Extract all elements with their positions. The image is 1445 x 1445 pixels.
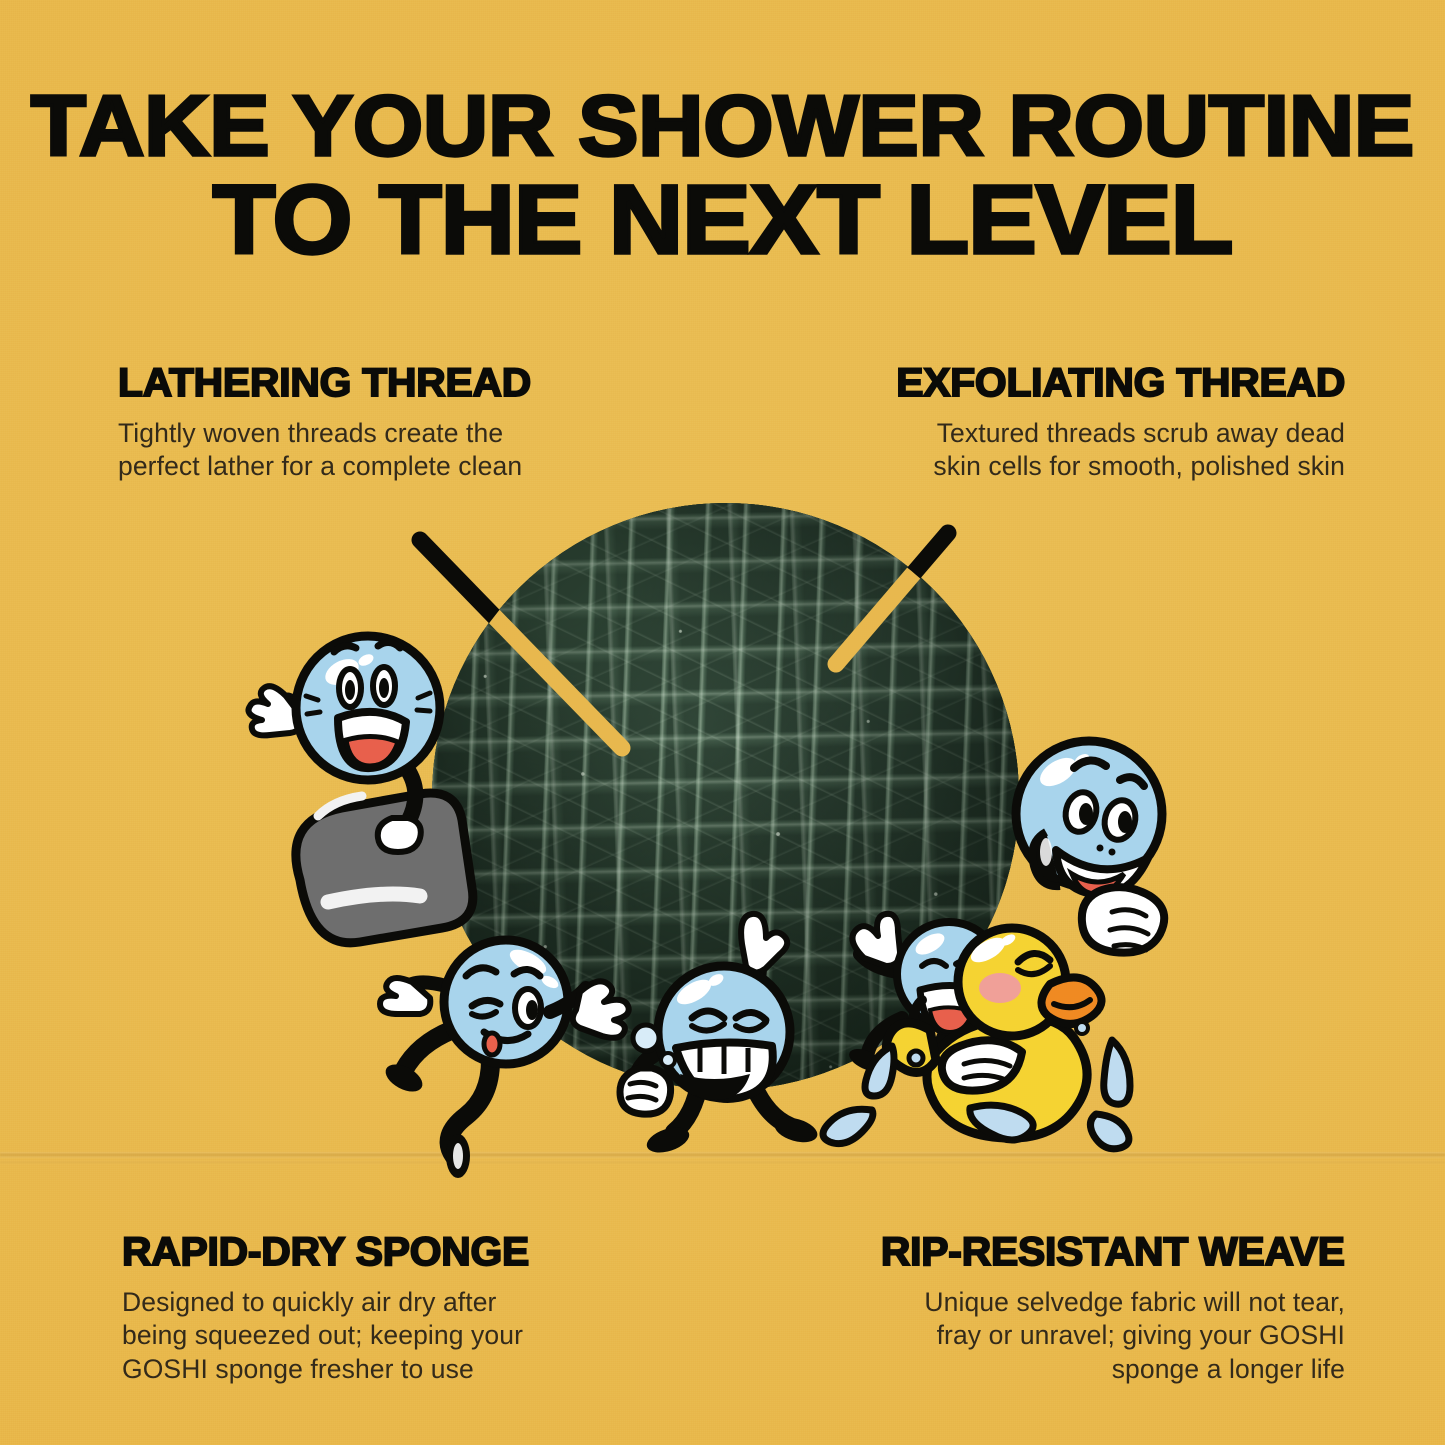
feature-desc-line: Unique selvedge fabric will not tear, [890,1286,1345,1319]
feature-desc-line: perfect lather for a complete clean [118,450,523,483]
paper-crease-line [0,1152,1445,1158]
feature-title: EXFOLIATING THREAD [896,363,1345,403]
feature-title: RAPID-DRY SPONGE [122,1232,531,1272]
feature-rapid-dry-sponge: RAPID-DRY SPONGE Designed to quickly air… [122,1232,523,1386]
feature-desc-line: sponge a longer life [890,1353,1345,1386]
mascot-bubble-leaning-chin [1016,741,1164,953]
feature-rip-resistant-weave: RIP-RESISTANT WEAVE Unique selvedge fabr… [890,1232,1345,1386]
infographic-poster: TAKE YOUR SHOWER ROUTINE TO THE NEXT LEV… [0,0,1445,1445]
feature-title: LATHERING THREAD [118,363,531,403]
feature-desc-line: fray or unravel; giving your GOSHI [890,1319,1345,1352]
feature-desc-line: Tightly woven threads create the [118,417,523,450]
glove-icon [380,978,430,1014]
paper-crease-line-secondary [0,1161,1445,1164]
feature-desc-line: skin cells for smooth, polished skin [905,450,1345,483]
glove-icon [249,686,303,735]
feature-exfoliating-thread: EXFOLIATING THREAD Textured threads scru… [905,363,1345,484]
headline-line-2: TO THE NEXT LEVEL [0,175,1445,265]
feature-desc-line: Designed to quickly air dry after [122,1286,523,1319]
page-title: TAKE YOUR SHOWER ROUTINE TO THE NEXT LEV… [0,87,1445,265]
feature-description: Textured threads scrub away dead skin ce… [905,417,1345,484]
feature-desc-line: GOSHI sponge fresher to use [122,1353,523,1386]
feature-description: Designed to quickly air dry after being … [122,1286,523,1386]
glove-icon [1082,887,1164,953]
fabric-texture [432,503,1019,1090]
feature-lathering-thread: LATHERING THREAD Tightly woven threads c… [118,363,523,484]
headline-line-1: TAKE YOUR SHOWER ROUTINE [0,87,1445,166]
feature-desc-line: being squeezed out; keeping your [122,1319,523,1352]
glove-icon [378,818,421,852]
feature-description: Unique selvedge fabric will not tear, fr… [890,1286,1345,1386]
fabric-closeup-circle [432,503,1019,1090]
feature-desc-line: Textured threads scrub away dead [905,417,1345,450]
feature-title: RIP-RESISTANT WEAVE [881,1232,1345,1272]
feature-description: Tightly woven threads create the perfect… [118,417,523,484]
